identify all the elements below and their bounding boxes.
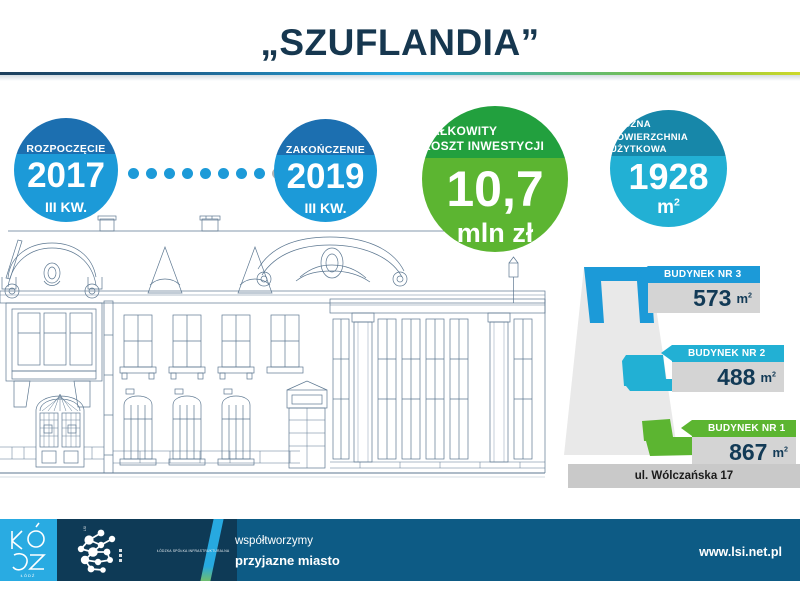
building-3-unit: m2 [736,291,752,306]
building-3-unit-exponent: 2 [748,291,752,299]
footer: ŁÓDŹ [0,519,800,581]
stat-circle-cost: CAŁKOWITY KOSZT INWESTYCJI 10,7 mln zł [422,106,568,252]
timeline-dot-filled [236,168,247,179]
building-label-3: BUDYNEK NR 3 573m2 [648,266,760,313]
building-2-area: 488 [717,364,755,391]
building-2-name: BUDYNEK NR 2 [688,348,765,359]
lsi-logo: LSI [67,525,153,581]
area-unit: m2 [657,198,680,217]
building-2-value: 488m2 [672,362,784,392]
timeline-dot-filled [164,168,175,179]
cost-value: 10,7 [446,164,543,214]
area-unit-exponent: 2 [674,198,680,209]
infographic-slide: „SZUFLANDIA” [0,0,800,600]
cost-caption: CAŁKOWITY KOSZT INWESTYCJI [422,106,568,158]
start-year: 2017 [27,158,105,193]
building-1-value: 867m2 [692,437,796,467]
area-value: 1928 [628,159,708,195]
stat-circle-start: ROZPOCZĘCIE 2017 III KW. [14,118,118,222]
stat-circle-end: ZAKOŃCZENIE 2019 III KW. [274,119,377,222]
building-2-unit-exponent: 2 [772,370,776,378]
page-title: „SZUFLANDIA” [0,22,800,64]
area-caption-line1: ŁĄCZNA [610,119,651,132]
timeline-dot-filled [200,168,211,179]
timeline-dot-filled [182,168,193,179]
timeline-dot-filled [128,168,139,179]
street-label: ul. Wólczańska 17 [568,464,800,488]
building-label-2: BUDYNEK NR 2 488m2 [672,345,784,392]
lodz-city-logo: ŁÓDŹ [0,519,57,581]
footer-tagline-line1: współtworzymy [235,533,340,551]
building-1-banner: BUDYNEK NR 1 [692,420,796,437]
timeline-dot-filled [218,168,229,179]
building-1-unit: m2 [772,445,788,460]
end-quarter: III KW. [305,201,347,215]
building-2-unit-text: m [760,370,772,385]
building-3-name: BUDYNEK NR 3 [664,269,741,280]
start-caption: ROZPOCZĘCIE [14,118,118,154]
lsi-logo-text: ŁÓDZKA SPÓŁKA INFRASTRUKTURALNA [157,549,229,554]
area-unit-text: m [657,197,674,218]
footer-bar: LSI ŁÓDZKA SPÓŁKA INFRASTRUKTURALNA wspó… [57,519,800,581]
timeline-dot-filled [146,168,157,179]
svg-text:ŁÓDŹ: ŁÓDŹ [21,573,36,578]
cost-unit: mln zł [457,220,534,247]
building-1-area: 867 [729,439,767,466]
building-2-unit: m2 [760,370,776,385]
building-1-name: BUDYNEK NR 1 [708,423,785,434]
footer-bottom-strip [0,581,800,600]
building-3-banner: BUDYNEK NR 3 [648,266,760,283]
start-quarter: III KW. [45,200,87,214]
footer-tagline-line2: przyjazne miasto [235,551,340,571]
building-1-unit-text: m [772,445,784,460]
title-divider-shadow [0,75,800,81]
stat-circle-area: ŁĄCZNA POWIERZCHNIA UŻYTKOWA 1928 m2 [610,110,727,227]
timeline-dot-filled [254,168,265,179]
building-3-value: 573m2 [648,283,760,313]
end-caption: ZAKOŃCZENIE [274,119,377,155]
svg-text:LSI: LSI [83,526,87,531]
footer-url[interactable]: www.lsi.net.pl [699,545,782,559]
building-elevation-drawing [0,215,560,505]
end-year: 2019 [287,159,365,194]
building-1-unit-exponent: 2 [784,445,788,453]
building-3-area: 573 [693,285,731,312]
area-caption: ŁĄCZNA POWIERZCHNIA UŻYTKOWA [610,110,727,156]
cost-caption-line2: KOSZT INWESTYCJI [422,139,544,154]
footer-tagline: współtworzymy przyjazne miasto [235,533,340,571]
building-2-banner: BUDYNEK NR 2 [672,345,784,362]
building-label-1: BUDYNEK NR 1 867m2 [692,420,796,467]
building-3-unit-text: m [736,291,748,306]
area-caption-line2: POWIERZCHNIA [610,132,688,145]
cost-caption-line1: CAŁKOWITY [422,124,497,139]
